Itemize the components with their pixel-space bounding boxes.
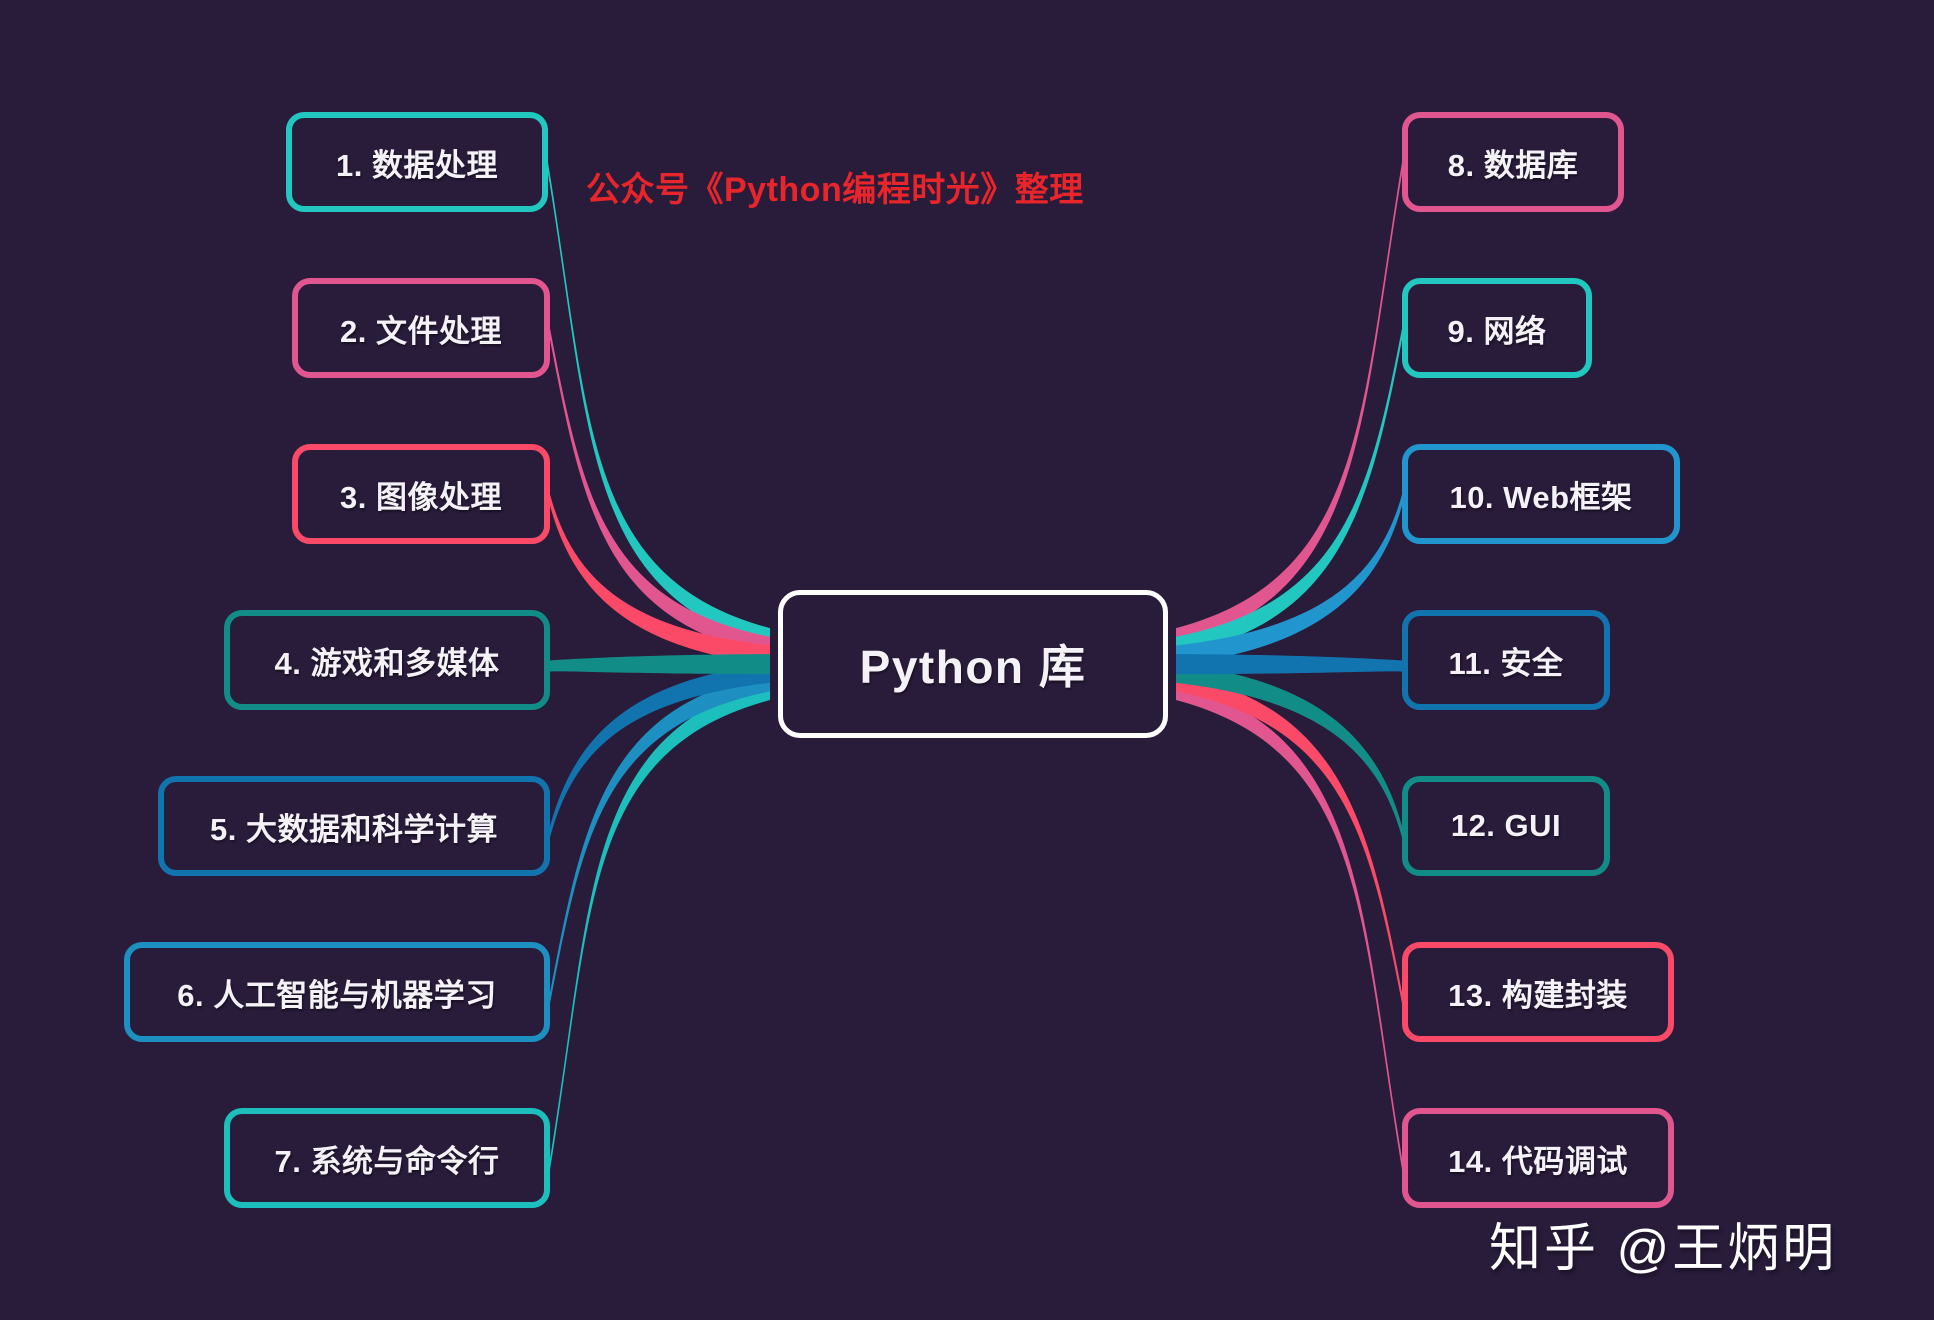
branch-node-13[interactable]: 13. 构建封装 [1402,942,1674,1042]
connector-7 [550,683,770,1170]
connector-3 [550,495,770,665]
branch-node-7[interactable]: 7. 系统与命令行 [224,1108,550,1208]
connector-11 [1176,654,1402,674]
branch-node-2[interactable]: 2. 文件处理 [292,278,550,378]
branch-node-8[interactable]: 8. 数据库 [1402,112,1624,212]
watermark-zhihu: 知乎 @王炳明 [1489,1206,1837,1281]
connector-6 [550,673,770,1003]
mindmap-canvas: 公众号《Python编程时光》整理 Python 库 1. 数据处理2. 文件处… [0,0,1934,1320]
connector-13 [1176,673,1402,1003]
branch-node-1[interactable]: 1. 数据处理 [286,112,548,212]
branch-node-4[interactable]: 4. 游戏和多媒体 [224,610,550,710]
connector-5 [550,664,770,838]
branch-node-11[interactable]: 11. 安全 [1402,610,1610,710]
connector-9 [1176,329,1402,655]
branch-node-14[interactable]: 14. 代码调试 [1402,1108,1674,1208]
credit-annotation: 公众号《Python编程时光》整理 [586,162,1084,211]
branch-node-3[interactable]: 3. 图像处理 [292,444,550,544]
branch-node-6[interactable]: 6. 人工智能与机器学习 [124,942,550,1042]
connector-12 [1176,664,1402,838]
branch-node-10[interactable]: 10. Web框架 [1402,444,1680,544]
branch-node-5[interactable]: 5. 大数据和科学计算 [158,776,550,876]
connector-1 [548,163,770,646]
connector-14 [1176,683,1402,1170]
connector-10 [1176,495,1402,665]
connector-2 [550,329,770,655]
branch-node-9[interactable]: 9. 网络 [1402,278,1592,378]
connector-8 [1176,163,1402,646]
branch-node-12[interactable]: 12. GUI [1402,776,1610,876]
center-node-python-library[interactable]: Python 库 [778,590,1168,738]
connector-4 [550,654,770,674]
